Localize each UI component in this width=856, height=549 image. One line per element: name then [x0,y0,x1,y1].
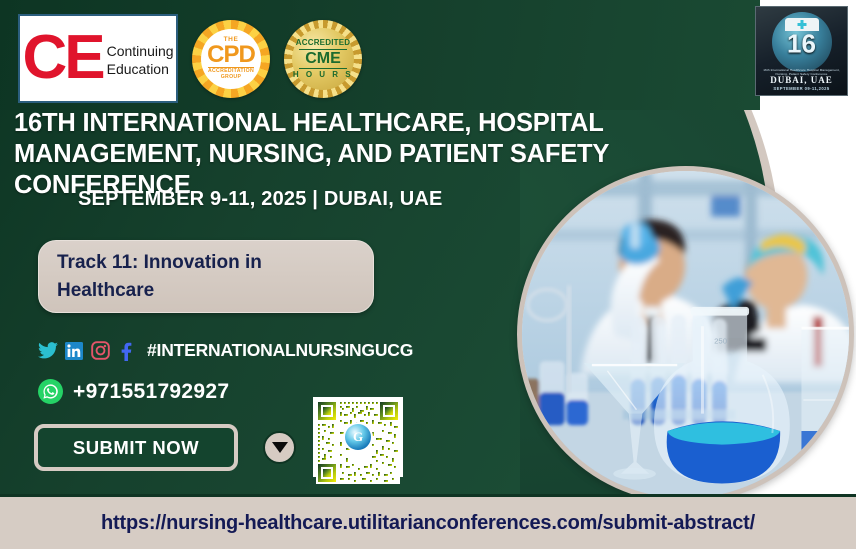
conference-banner: 250 CE Continuing Education THE CPD [0,0,856,549]
submit-now-button[interactable]: SUBMIT NOW [34,424,238,471]
submit-now-label: SUBMIT NOW [73,437,199,459]
cme-seal-inner: ACCREDITED CME H O U R S [292,28,354,90]
linkedin-icon[interactable] [64,341,84,361]
cme-hours-label: H O U R S [293,71,353,79]
cme-seal-badge: ACCREDITED CME H O U R S [284,20,362,98]
whatsapp-phone-number: +971551792927 [73,380,229,404]
svg-text:250: 250 [714,337,727,346]
conference-emblem-logo: 16 16th International Healthcare Hospita… [755,6,848,96]
ce-line-2: Education [107,61,174,79]
cme-acronym: CME [299,49,347,69]
facebook-icon[interactable] [116,341,136,361]
footer-url-text: https://nursing-healthcare.utilitarianco… [101,512,755,535]
qr-code[interactable] [316,400,400,474]
ce-logo: CE Continuing Education [18,14,178,103]
footer-url-bar[interactable]: https://nursing-healthcare.utilitarianco… [0,497,856,549]
emblem-text-block: 16th International Healthcare Hospital M… [756,68,847,95]
emblem-dates: SEPTEMBER 09-11,2025 [759,86,844,91]
cpd-subtitle: ACCREDITATION GROUP [208,67,254,80]
lab-photo-circle: 250 [517,166,854,503]
track-label: Track 11: Innovation in Healthcare [57,249,355,304]
whatsapp-icon[interactable] [38,379,63,404]
hashtag-text: #INTERNATIONALNURSINGUCG [147,340,413,361]
track-badge[interactable]: Track 11: Innovation in Healthcare [38,240,374,313]
cpd-seal-badge: THE CPD ACCREDITATION GROUP [192,20,270,98]
whatsapp-contact-row[interactable]: +971551792927 [38,379,229,404]
social-links-row: #INTERNATIONALNURSINGUCG [38,340,413,361]
ce-line-1: Continuing [107,43,174,61]
cpd-seal-inner: THE CPD ACCREDITATION GROUP [201,29,261,89]
chevron-down-icon [272,442,288,453]
ce-letters: CE [22,33,102,84]
chevron-down-button[interactable] [263,431,296,464]
cme-accredited-label: ACCREDITED [296,39,350,47]
cpd-acronym: CPD [207,43,255,67]
emblem-edition-number: 16 [787,28,816,59]
cpd-sub-line-2: GROUP [208,75,254,80]
qr-center-logo [345,424,371,450]
ce-wordmark: Continuing Education [107,39,174,78]
twitter-icon[interactable] [38,341,58,361]
accreditation-badges: CE Continuing Education THE CPD ACCREDIT… [18,14,362,103]
qr-code-box[interactable] [313,397,403,477]
instagram-icon[interactable] [90,341,110,361]
laboratory-photo: 250 [522,171,849,498]
footer-divider [0,494,856,497]
emblem-location: DUBAI, UAE [759,76,844,86]
date-location-line: SEPTEMBER 9-11, 2025 | DUBAI, UAE [78,188,443,211]
